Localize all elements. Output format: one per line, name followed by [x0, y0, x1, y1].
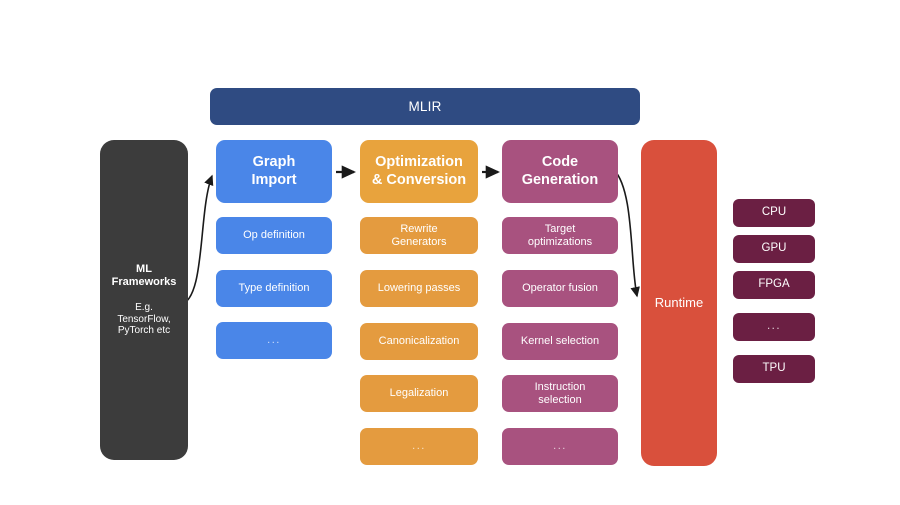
item-lowering-passes-label: Lowering passes	[378, 282, 461, 295]
mlir-banner: MLIR	[210, 88, 640, 125]
item-op-definition[interactable]: Op definition	[216, 217, 332, 254]
item-code-generation-more[interactable]: ...	[502, 428, 618, 465]
stage-header-code-generation-label: Code Generation	[522, 154, 599, 188]
runtime-block: Runtime	[641, 140, 717, 466]
stage-header-optimization-conversion[interactable]: Optimization & Conversion	[360, 140, 478, 203]
item-type-definition[interactable]: Type definition	[216, 270, 332, 307]
item-canonicalization-label: Canonicalization	[379, 335, 460, 348]
stage-header-optimization-conversion-label: Optimization & Conversion	[372, 154, 466, 188]
item-optimization-more-label: ...	[412, 440, 426, 453]
hardware-gpu[interactable]: GPU	[733, 235, 815, 263]
item-target-optimizations-label: Target optimizations	[528, 223, 592, 249]
ml-frameworks-subtitle: E.g. TensorFlow, PyTorch etc	[117, 302, 170, 337]
hardware-fpga[interactable]: FPGA	[733, 271, 815, 299]
item-op-definition-label: Op definition	[243, 229, 305, 242]
item-instruction-selection-label: Instruction selection	[535, 381, 586, 407]
item-operator-fusion[interactable]: Operator fusion	[502, 270, 618, 307]
stage-header-code-generation[interactable]: Code Generation	[502, 140, 618, 203]
item-graph-import-more[interactable]: ...	[216, 322, 332, 359]
item-kernel-selection[interactable]: Kernel selection	[502, 323, 618, 360]
mlir-banner-label: MLIR	[408, 99, 441, 115]
hardware-more-label: ...	[767, 320, 781, 334]
item-legalization[interactable]: Legalization	[360, 375, 478, 412]
item-type-definition-label: Type definition	[239, 282, 310, 295]
ml-frameworks-title: ML Frameworks	[112, 263, 177, 289]
item-rewrite-generators-label: Rewrite Generators	[391, 223, 446, 249]
hardware-cpu[interactable]: CPU	[733, 199, 815, 227]
item-rewrite-generators[interactable]: Rewrite Generators	[360, 217, 478, 254]
item-graph-import-more-label: ...	[267, 334, 281, 347]
stage-header-graph-import[interactable]: Graph Import	[216, 140, 332, 203]
ml-frameworks-block: ML Frameworks E.g. TensorFlow, PyTorch e…	[100, 140, 188, 460]
item-target-optimizations[interactable]: Target optimizations	[502, 217, 618, 254]
item-instruction-selection[interactable]: Instruction selection	[502, 375, 618, 412]
hardware-gpu-label: GPU	[762, 242, 787, 256]
hardware-fpga-label: FPGA	[758, 278, 789, 292]
hardware-cpu-label: CPU	[762, 206, 786, 220]
hardware-tpu-label: TPU	[763, 362, 786, 376]
item-legalization-label: Legalization	[390, 387, 449, 400]
diagram-canvas: MLIR ML Frameworks E.g. TensorFlow, PyTo…	[0, 0, 900, 505]
item-operator-fusion-label: Operator fusion	[522, 282, 598, 295]
hardware-tpu[interactable]: TPU	[733, 355, 815, 383]
item-kernel-selection-label: Kernel selection	[521, 335, 599, 348]
item-canonicalization[interactable]: Canonicalization	[360, 323, 478, 360]
item-lowering-passes[interactable]: Lowering passes	[360, 270, 478, 307]
stage-header-graph-import-label: Graph Import	[251, 154, 296, 188]
item-optimization-more[interactable]: ...	[360, 428, 478, 465]
runtime-label: Runtime	[655, 295, 703, 310]
item-code-generation-more-label: ...	[553, 440, 567, 453]
hardware-more[interactable]: ...	[733, 313, 815, 341]
